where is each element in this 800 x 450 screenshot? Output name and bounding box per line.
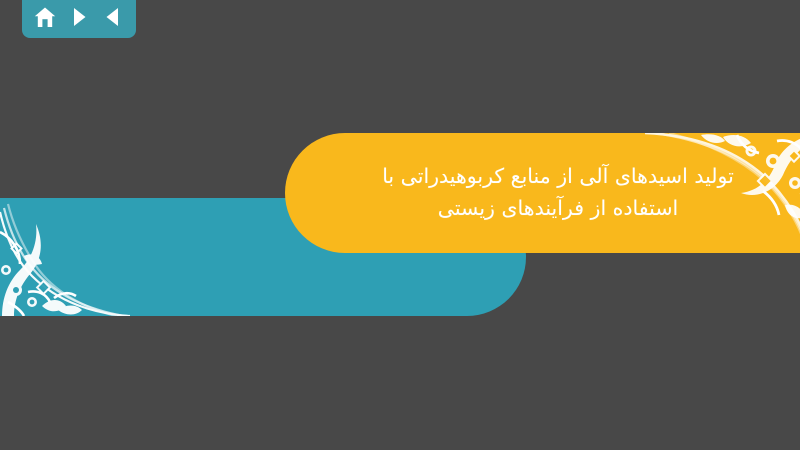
triangle-right-icon [70,7,88,27]
triangle-left-icon [104,7,122,27]
previous-button[interactable] [100,4,126,30]
page-title: تولید اسیدهای آلی از منابع کربوهیدراتی ب… [343,161,773,225]
page-title-line-1: تولید اسیدهای آلی از منابع کربوهیدراتی ب… [343,161,773,193]
page-title-line-2: استفاده از فرآیندهای زیستی [343,193,773,225]
home-button[interactable] [32,4,58,30]
slide-stage: تولید اسیدهای آلی از منابع کربوهیدراتی ب… [0,0,800,450]
navigation-bar [22,0,136,38]
next-button[interactable] [66,4,92,30]
home-icon [34,7,56,28]
orange-banner-panel: تولید اسیدهای آلی از منابع کربوهیدراتی ب… [285,133,800,253]
arabesque-ornament-teal [0,198,130,316]
